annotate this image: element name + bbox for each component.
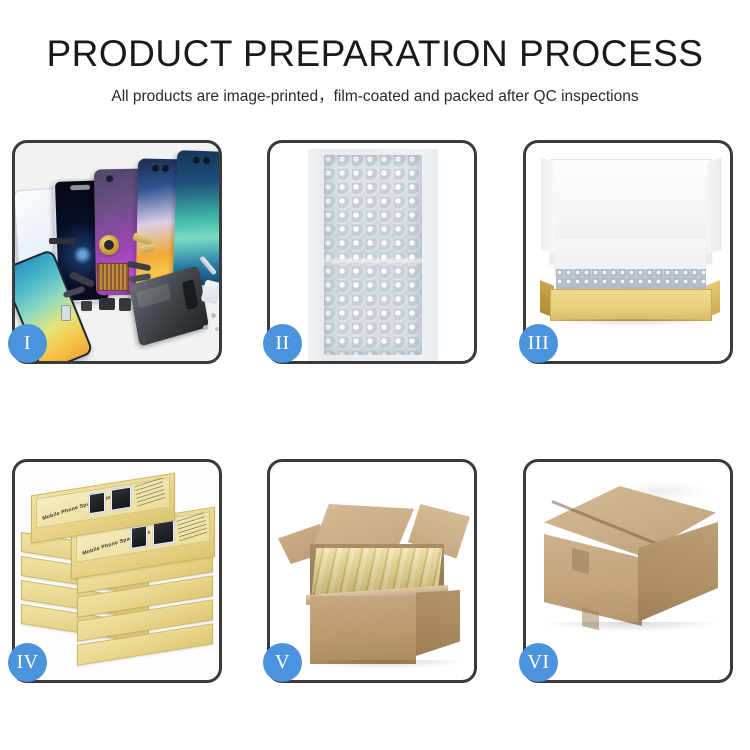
camera-hole-icon	[193, 157, 200, 164]
camera-hole-icon	[203, 157, 210, 164]
process-step-grid: I II III Mobile P	[0, 0, 750, 750]
camera-hole-icon	[162, 165, 169, 172]
carton-front-face	[310, 596, 416, 664]
inner-box-front	[550, 289, 712, 321]
carton-side-face	[416, 590, 460, 656]
screw-part	[203, 325, 208, 330]
step-badge-1: I	[8, 324, 47, 363]
phone-screen-teal	[173, 150, 222, 286]
drop-shadow	[546, 319, 718, 327]
box-label-screen-image	[110, 485, 132, 511]
camera-ring-part	[99, 235, 119, 255]
bubble-wrap-wrapped-item	[324, 155, 422, 355]
step-badge-5: V	[263, 643, 302, 682]
bubble-wrap-contents	[556, 269, 706, 291]
speaker-bar-part	[49, 238, 75, 244]
screw-part	[211, 313, 216, 318]
camera-hole-icon	[106, 175, 113, 182]
drop-shadow	[304, 660, 464, 669]
step-badge-6: VI	[519, 643, 558, 682]
step-panel-1[interactable]	[12, 140, 222, 364]
step-badge-4: IV	[8, 643, 47, 682]
step-panel-4[interactable]: Mobile Phone Spare Parts Mobile Phone Sp…	[12, 459, 222, 683]
module-part	[119, 298, 131, 311]
step-badge-3: III	[519, 324, 558, 363]
module-part	[81, 301, 92, 311]
step-panel-2[interactable]	[267, 140, 477, 364]
step-panel-5[interactable]	[267, 459, 477, 683]
small-component-part	[61, 305, 71, 321]
box-label-screen-image	[130, 524, 148, 550]
box-label-screen-image	[88, 491, 106, 516]
chip-grid-part	[97, 263, 129, 291]
step-panel-3[interactable]	[523, 140, 733, 364]
module-part	[99, 298, 115, 310]
notch-shape	[70, 185, 90, 191]
camera-hole-icon	[152, 165, 159, 172]
step-badge-2: II	[263, 324, 302, 363]
screw-part	[215, 327, 219, 331]
carton-handle-tab	[572, 548, 589, 574]
step-panel-6[interactable]	[523, 459, 733, 683]
drop-shadow	[542, 622, 722, 632]
box-stack: Mobile Phone Spare Parts Mobile Phone Sp…	[15, 462, 219, 680]
